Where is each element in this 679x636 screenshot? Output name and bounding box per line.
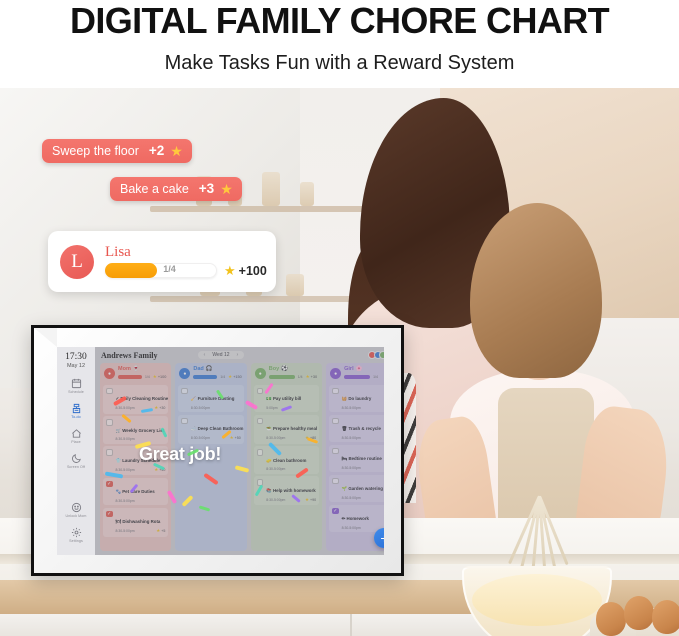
batter [472, 574, 602, 626]
sidebar-item-unlock-mom[interactable]: Unlock Mom [57, 502, 95, 518]
task-checkbox[interactable] [181, 418, 188, 425]
task-time: 8:30-5:00pm [266, 436, 285, 440]
points-value: +100 [158, 375, 167, 379]
task-card[interactable]: 🧺 Do laundry8:30-5:00pm [329, 385, 384, 413]
task-title: 🌱 Garden watering [342, 486, 383, 491]
date-navigator[interactable]: ‹ Wed 12 › [198, 351, 245, 359]
member-emoji-icon: 🎧 [206, 367, 213, 373]
task-title: 🍽 Dishwashing Rota [116, 519, 161, 524]
task-title-text: Help with homework [273, 488, 316, 493]
task-emoji-icon: 🛏 [342, 456, 348, 461]
star-icon: ★ [170, 144, 183, 158]
task-time: 5:00pm [266, 406, 277, 410]
kitchen-jar [300, 182, 314, 206]
task-time: 8:30-5:00pm [116, 499, 135, 503]
task-meta-row: 8:30-5:00pm★+5 [116, 528, 166, 534]
task-title-text: Deep Clean Bathroom [198, 426, 244, 431]
task-emoji-icon: 🐾 [116, 489, 121, 494]
user-name: Lisa [105, 245, 267, 260]
task-card[interactable]: 🛒 Weekly Grocery List8:30-5:00pm [103, 416, 168, 444]
page-subtitle: Make Tasks Fun with a Reward System [0, 40, 679, 75]
page-title: DIGITAL FAMILY CHORE CHART [0, 0, 679, 40]
member-avatar-group[interactable]: ▾ [371, 351, 384, 359]
points-value: +30 [159, 406, 165, 410]
sidebar-item-label: Settings [69, 539, 83, 543]
task-emoji-icon: 🧺 [342, 396, 347, 401]
task-meta-row: 8:30-5:00pm [342, 465, 384, 470]
star-icon: ★ [228, 374, 232, 380]
column-member-name: Girl🌸 [344, 367, 384, 373]
column-progress-row: 1/4★ [344, 374, 384, 380]
sidebar-item-place[interactable]: Place [57, 428, 95, 444]
tablet-device: 17:30 May 12 ScheduleTo-doPlaceScreen Of… [31, 325, 404, 576]
star-icon: ★ [305, 497, 309, 503]
star-icon: ★ [224, 263, 236, 279]
egg [624, 596, 654, 630]
task-points: ★+90 [305, 497, 316, 503]
task-points: ★+30 [154, 405, 165, 411]
clock-time: 17:30 [65, 352, 87, 363]
points-row: ★ +100 [224, 263, 267, 279]
points-value: +90 [310, 498, 316, 502]
progress-bar: 1/4 [105, 263, 217, 278]
avatar: L [60, 245, 94, 279]
task-meta-row: 8:30-5:00pm★+40 [116, 467, 166, 473]
task-columns: ●Mom🍷1/4★+100✓ Daily Cleaning Routine8:3… [95, 363, 384, 555]
progress-bar [193, 375, 217, 379]
task-checkbox[interactable] [332, 388, 339, 395]
avatar[interactable]: ● [104, 368, 115, 379]
task-card[interactable]: ✓🐾 Pet Care Duties8:30-5:00pm [103, 478, 168, 506]
task-body: 🛏 Bedtime routine8:30-5:00pm [342, 447, 384, 470]
star-icon: ★ [230, 435, 234, 441]
star-icon: ★ [156, 528, 160, 534]
task-meta-row: 8:30-5:00pm★+80 [266, 435, 316, 441]
task-title-text: Do laundry [348, 396, 371, 401]
chore-pill-bake-a-cake[interactable]: Bake a cake +3 ★ [110, 177, 242, 201]
task-card[interactable]: ✓✏ Homework8:30-5:00pm [329, 505, 384, 533]
task-checkbox[interactable]: ✓ [332, 508, 339, 515]
sidebar-item-label: Unlock Mom [66, 514, 87, 518]
member-avatar[interactable] [379, 351, 384, 359]
task-title: ✓ Daily Cleaning Routine [116, 396, 169, 401]
task-checkbox[interactable] [257, 418, 264, 425]
task-title: 🧽 Clean bathroom [266, 458, 306, 463]
task-checkbox[interactable]: ✓ [106, 481, 113, 488]
star-icon: ★ [220, 182, 233, 196]
task-meta-row: 8:30-5:00pm [116, 437, 166, 442]
task-checkbox[interactable]: ✓ [106, 511, 113, 518]
task-body: ✓ Daily Cleaning Routine8:30-5:00pm★+30 [116, 387, 166, 411]
progress-fraction: 1/4 [220, 375, 225, 379]
task-emoji-icon: 🧹 [191, 396, 196, 401]
task-title: 📚 Help with homework [266, 488, 315, 493]
task-card[interactable]: ✓ Daily Cleaning Routine8:30-5:00pm★+30 [103, 385, 168, 414]
task-body: 🧽 Clean bathroom8:30-5:00pm [266, 449, 316, 472]
column-header[interactable]: ●Girl🌸1/4★ [329, 366, 384, 382]
chore-pill-label: Sweep the floor [52, 144, 139, 158]
gear-icon [71, 527, 82, 538]
whisk-icon [508, 496, 572, 574]
task-card[interactable]: 🧹 Furniture Dusting8:30-5:00pm [178, 385, 243, 413]
tablet-screen[interactable]: 17:30 May 12 ScheduleTo-doPlaceScreen Of… [57, 347, 384, 555]
task-body: 🧹 Furniture Dusting8:30-5:00pm [191, 387, 241, 410]
sidebar-item-label: Place [71, 440, 81, 444]
task-emoji-icon: 🧽 [266, 458, 271, 463]
task-time: 8:30-5:00pm [266, 498, 285, 502]
sidebar-item-label: To-do [71, 415, 81, 419]
task-body: 🛁 Deep Clean Bathroom8:30-5:00pm★+50 [191, 417, 241, 441]
task-checkbox[interactable] [332, 448, 339, 455]
task-meta-row: 5:00pm [266, 405, 316, 410]
task-body: 🌱 Garden watering8:30-5:00pm [342, 477, 384, 500]
task-emoji-icon: 🌱 [342, 486, 347, 491]
task-checkbox[interactable] [257, 388, 264, 395]
task-column-boy: ●Boy⚽1/4★+30💵 Pay utility bill5:00pm🥗 Pr… [251, 363, 322, 551]
task-time: 8:30-5:00pm [342, 496, 361, 500]
task-checkbox[interactable] [257, 449, 264, 456]
task-meta-row: 8:30-5:00pm★+30 [116, 405, 166, 411]
task-meta-row: 8:30-5:00pm★+50 [191, 435, 241, 441]
points-value: +30 [311, 375, 317, 379]
task-time: 8:30-5:00pm [342, 466, 361, 470]
task-body: 🥗 Prepare healthy meal8:30-5:00pm★+80 [266, 417, 316, 441]
star-icon: ★ [306, 374, 310, 380]
task-title: 🛏 Bedtime routine [342, 456, 382, 461]
task-emoji-icon: ✓ [116, 396, 120, 401]
task-title-text: Homework [347, 516, 369, 521]
column-member-name: Boy⚽ [269, 367, 317, 373]
task-card[interactable]: 🌱 Garden watering8:30-5:00pm [329, 475, 384, 503]
kitchen-jar [286, 274, 304, 296]
current-day-label: Wed 12 [212, 352, 229, 358]
task-meta-row: 8:30-5:00pm★+90 [266, 497, 316, 503]
task-title: 🛁 Deep Clean Bathroom [191, 426, 244, 431]
column-points: ★+30 [306, 374, 318, 380]
task-points: ★+40 [154, 467, 165, 473]
task-title-text: Bedtime routine [348, 456, 381, 461]
column-points: ★+150 [228, 374, 242, 380]
task-title-text: Pet Care Duties [122, 489, 154, 494]
progress-fraction: 1/4 [163, 264, 176, 274]
task-title: 🐾 Pet Care Duties [116, 489, 155, 494]
task-title: 🧺 Do laundry [342, 396, 372, 401]
task-card[interactable]: ✓🍽 Dishwashing Rota8:30-5:00pm★+5 [103, 508, 168, 537]
column-meta: Dad🎧1/4★+150 [193, 367, 241, 380]
task-time: 8:30-5:00pm [116, 468, 135, 472]
task-title: 🛒 Weekly Grocery List [116, 428, 165, 433]
baking-items [400, 528, 679, 636]
task-body: 🗑 Trash & recycle8:30-5:00pm [342, 417, 384, 440]
column-header[interactable]: ●Boy⚽1/4★+30 [254, 366, 319, 382]
task-emoji-icon: 📚 [266, 488, 271, 493]
member-name-text: Mom [118, 367, 131, 373]
task-body: 👕 Laundry Schedule8:30-5:00pm★+40 [116, 449, 166, 473]
task-emoji-icon: 🥗 [266, 426, 271, 431]
column-header[interactable]: ●Dad🎧1/4★+150 [178, 366, 243, 382]
progress-fraction: 1/4 [373, 375, 378, 379]
task-card[interactable]: 💵 Pay utility bill5:00pm [254, 385, 319, 413]
task-checkbox[interactable] [106, 388, 113, 395]
task-time: 8:30-5:00pm [266, 467, 285, 471]
task-card[interactable]: 🛁 Deep Clean Bathroom8:30-5:00pm★+50 [178, 415, 243, 444]
task-time: 8:30-5:00pm [116, 406, 135, 410]
chore-pill-points: +2 [149, 143, 164, 158]
kitchen-jar [262, 172, 280, 206]
column-progress-row: 1/4★+30 [269, 374, 317, 380]
task-column-girl: ●Girl🌸1/4★🧺 Do laundry8:30-5:00pm🗑 Trash… [326, 363, 384, 551]
avatar[interactable]: ● [255, 368, 266, 379]
user-progress-card[interactable]: L Lisa 1/4 ★ +100 [48, 231, 276, 292]
points-value: +150 [233, 375, 242, 379]
chore-pill-points: +3 [199, 181, 214, 196]
task-emoji-icon: 💵 [266, 396, 271, 401]
task-time: 8:30-5:00pm [116, 437, 135, 441]
family-name: Andrews Family [101, 351, 158, 360]
task-emoji-icon: 👕 [116, 458, 121, 463]
column-member-name: Mom🍷 [118, 367, 166, 373]
task-meta-row: 8:30-5:00pm [191, 405, 241, 410]
task-emoji-icon: 🛁 [191, 426, 196, 431]
task-body: 💵 Pay utility bill5:00pm [266, 387, 316, 410]
sidebar-item-schedule[interactable]: Schedule [57, 378, 95, 394]
task-card[interactable]: 👕 Laundry Schedule8:30-5:00pm★+40 [103, 446, 168, 475]
progress-bar-fill [105, 263, 157, 278]
avatar[interactable]: ● [179, 368, 190, 379]
task-checkbox[interactable] [332, 418, 339, 425]
task-title: 🥗 Prepare healthy meal [266, 426, 317, 431]
task-checkbox[interactable] [332, 478, 339, 485]
home-icon [71, 428, 82, 439]
task-column-dad: ●Dad🎧1/4★+150🧹 Furniture Dusting8:30-5:0… [175, 363, 246, 551]
task-body: 🍽 Dishwashing Rota8:30-5:00pm★+5 [116, 510, 166, 534]
star-icon: ★ [153, 374, 157, 380]
task-body: 🛒 Weekly Grocery List8:30-5:00pm [116, 419, 166, 442]
column-meta: Boy⚽1/4★+30 [269, 367, 317, 380]
task-points: ★+80 [305, 435, 316, 441]
sidebar-item-label: Schedule [68, 390, 84, 394]
points-value: +50 [235, 436, 241, 440]
column-member-name: Dad🎧 [193, 367, 241, 373]
task-title-text: Garden watering [348, 486, 383, 491]
task-time: 8:30-5:00pm [191, 406, 210, 410]
task-body: 📚 Help with homework8:30-5:00pm★+90 [266, 479, 316, 503]
task-title-text: Pay utility bill [273, 396, 301, 401]
task-meta-row: 8:30-5:00pm [116, 498, 166, 503]
task-emoji-icon: 🍽 [116, 519, 122, 524]
avatar[interactable]: ● [330, 368, 341, 379]
column-header[interactable]: ●Mom🍷1/4★+100 [103, 366, 168, 382]
egg [596, 602, 626, 636]
progress-bar [118, 375, 142, 379]
sidebar-item-screen-off[interactable]: Screen Off [57, 453, 95, 469]
task-title-text: Trash & recycle [348, 426, 380, 431]
egg [652, 600, 679, 634]
task-card[interactable]: 🛏 Bedtime routine8:30-5:00pm [329, 445, 384, 473]
chore-pill-label: Bake a cake [120, 182, 189, 196]
task-title-text: Dishwashing Rota [122, 519, 160, 524]
progress-row: 1/4 ★ +100 [105, 263, 267, 279]
member-name-text: Dad [193, 367, 203, 373]
points-value: +40 [159, 468, 165, 472]
app-topbar: Andrews Family ‹ Wed 12 › ▾ [95, 347, 384, 363]
cabinet-seam [350, 614, 352, 636]
task-card[interactable]: 🥗 Prepare healthy meal8:30-5:00pm★+80 [254, 415, 319, 444]
task-meta-row: 8:30-5:00pm [342, 495, 384, 500]
task-title: 💵 Pay utility bill [266, 396, 301, 401]
chore-pill-sweep-the-floor[interactable]: Sweep the floor +2 ★ [42, 139, 192, 163]
task-emoji-icon: 🗑 [342, 426, 348, 431]
task-card[interactable]: 📚 Help with homework8:30-5:00pm★+90 [254, 476, 319, 505]
member-emoji-icon: 🌸 [356, 367, 363, 373]
task-points: ★+50 [230, 435, 241, 441]
task-checkbox[interactable] [106, 449, 113, 456]
task-title-text: Clean bathroom [273, 458, 306, 463]
app-sidebar: 17:30 May 12 ScheduleTo-doPlaceScreen Of… [57, 347, 95, 555]
task-meta-row: 8:30-5:00pm [342, 435, 384, 440]
user-card-body: Lisa 1/4 ★ +100 [105, 245, 267, 279]
sidebar-nav: ScheduleTo-doPlaceScreen OffUnlock MomSe… [57, 378, 95, 543]
calendar-icon [71, 378, 82, 389]
column-points: ★+100 [153, 374, 167, 380]
progress-bar [344, 375, 370, 379]
sidebar-item-settings[interactable]: Settings [57, 527, 95, 543]
task-card[interactable]: 🗑 Trash & recycle8:30-5:00pm [329, 415, 384, 443]
task-time: 8:30-5:00pm [342, 436, 361, 440]
task-body: 🐾 Pet Care Duties8:30-5:00pm [116, 480, 166, 503]
column-meta: Mom🍷1/4★+100 [118, 367, 166, 380]
member-emoji-icon: ⚽ [281, 367, 288, 373]
task-body: ✏ Homework8:30-5:00pm [342, 507, 384, 530]
task-title: 👕 Laundry Schedule [116, 458, 161, 463]
task-title: 🧹 Furniture Dusting [191, 396, 235, 401]
task-time: 8:30-5:00pm [342, 406, 361, 410]
task-title: ✏ Homework [342, 516, 369, 521]
task-time: 8:30-5:00pm [191, 436, 210, 440]
task-body: 🧺 Do laundry8:30-5:00pm [342, 387, 384, 410]
task-emoji-icon: ✏ [342, 516, 346, 521]
checklist-icon [71, 403, 82, 414]
task-title-text: Daily Cleaning Routine [120, 396, 168, 401]
clock-date: May 12 [67, 363, 85, 369]
page-header: DIGITAL FAMILY CHORE CHART Make Tasks Fu… [0, 0, 679, 75]
task-title-text: Weekly Grocery List [122, 428, 164, 433]
star-icon: ★ [154, 467, 158, 473]
star-icon: ★ [305, 435, 309, 441]
member-name-text: Girl [344, 367, 353, 373]
task-checkbox[interactable] [106, 419, 113, 426]
face-icon [71, 502, 82, 513]
task-title-text: Laundry Schedule [122, 458, 160, 463]
column-meta: Girl🌸1/4★ [344, 367, 384, 380]
task-column-mom: ●Mom🍷1/4★+100✓ Daily Cleaning Routine8:3… [100, 363, 171, 551]
points-value: +80 [310, 436, 316, 440]
sidebar-item-label: Screen Off [67, 465, 85, 469]
task-checkbox[interactable] [257, 479, 264, 486]
task-title: 🗑 Trash & recycle [342, 426, 381, 431]
member-emoji-icon: 🍷 [133, 367, 140, 373]
points-value: +100 [239, 264, 267, 278]
chevron-right-icon[interactable]: › [237, 352, 239, 358]
progress-fraction: 1/4 [145, 375, 150, 379]
add-task-button[interactable]: + [374, 528, 384, 548]
member-name-text: Boy [269, 367, 279, 373]
task-title-text: Furniture Dusting [198, 396, 235, 401]
task-checkbox[interactable] [181, 388, 188, 395]
task-meta-row: 8:30-5:00pm [342, 405, 384, 410]
points-value: +5 [161, 529, 165, 533]
task-card[interactable]: 🧽 Clean bathroom8:30-5:00pm [254, 446, 319, 474]
sidebar-item-to-do[interactable]: To-do [57, 403, 95, 419]
app-main: Andrews Family ‹ Wed 12 › ▾ ●Mom🍷1/4★+10… [95, 347, 384, 555]
chevron-left-icon[interactable]: ‹ [204, 352, 206, 358]
star-icon: ★ [154, 405, 158, 411]
column-progress-row: 1/4★+100 [118, 374, 166, 380]
task-title-text: Prepare healthy meal [273, 426, 317, 431]
task-points: ★+5 [156, 528, 165, 534]
task-time: 8:30-5:00pm [342, 526, 361, 530]
task-emoji-icon: 🛒 [116, 428, 121, 433]
column-progress-row: 1/4★+150 [193, 374, 241, 380]
task-meta-row: 8:30-5:00pm [266, 467, 316, 472]
task-time: 8:30-5:00pm [116, 529, 135, 533]
progress-bar [269, 375, 295, 379]
progress-fraction: 1/4 [298, 375, 303, 379]
moon-icon [71, 453, 82, 464]
